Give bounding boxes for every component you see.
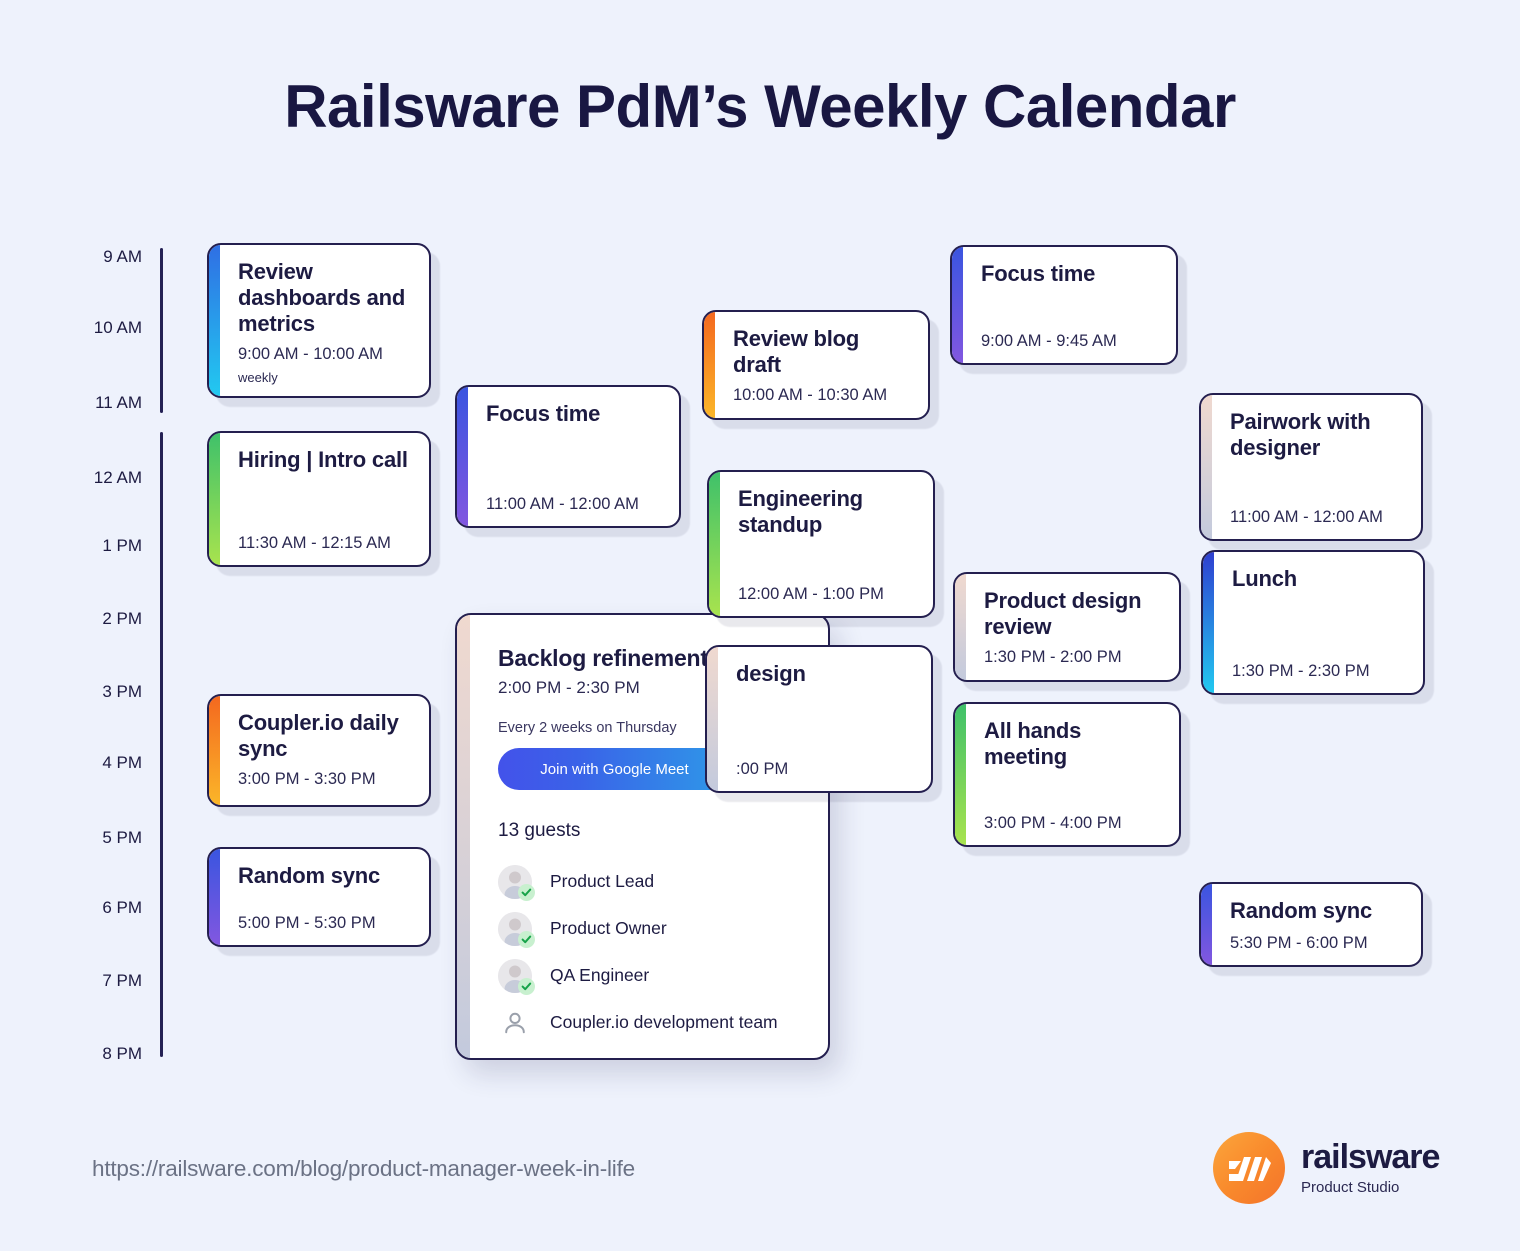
time-axis-label-10-am: 10 AM [60, 318, 142, 338]
event-accent-stripe [209, 696, 220, 805]
team-person-icon [498, 1010, 532, 1036]
time-axis-label-7-pm: 7 PM [60, 971, 142, 991]
time-axis-rule-2 [160, 432, 163, 1057]
railsware-mark-icon [1213, 1132, 1285, 1204]
event-accent-stripe [704, 312, 715, 418]
avatar [498, 865, 532, 899]
event-time: 11:00 AM - 12:00 AM [486, 495, 663, 514]
time-axis-label-11-am: 11 AM [60, 393, 142, 413]
time-axis-rule-1 [160, 248, 163, 413]
event-title: Lunch [1232, 566, 1407, 592]
event-accent-stripe [209, 245, 220, 396]
event-card-review-dashboards[interactable]: Review dashboards and metrics9:00 AM - 1… [207, 243, 431, 398]
time-axis-label-5-pm: 5 PM [60, 828, 142, 848]
railsware-logo: railsware Product Studio [1213, 1132, 1439, 1204]
guest-list: Product Lead Product Owner QA Engineer C… [498, 858, 806, 1046]
event-accent-stripe [955, 704, 966, 845]
guest-name: QA Engineer [550, 965, 649, 986]
time-axis-label-12-am: 12 AM [60, 468, 142, 488]
event-time: 5:30 PM - 6:00 PM [1230, 934, 1405, 953]
event-title: design [736, 661, 915, 687]
event-accent-stripe [707, 647, 718, 791]
check-icon [518, 884, 535, 901]
event-time: 3:00 PM - 4:00 PM [984, 814, 1163, 833]
guest-name: Coupler.io development team [550, 1012, 778, 1033]
event-time: 11:30 AM - 12:15 AM [238, 534, 413, 553]
event-accent-stripe [1201, 884, 1212, 965]
event-title: Coupler.io daily sync [238, 710, 413, 762]
event-card-random-sync-right[interactable]: Random sync5:30 PM - 6:00 PM [1199, 882, 1423, 967]
guest-name: Product Owner [550, 918, 667, 939]
event-time: 1:30 PM - 2:00 PM [984, 648, 1163, 667]
event-card-focus-time-mid[interactable]: Focus time11:00 AM - 12:00 AM [455, 385, 681, 528]
event-time: 9:00 AM - 10:00 AM [238, 345, 413, 364]
check-icon [518, 978, 535, 995]
event-time: 11:00 AM - 12:00 AM [1230, 508, 1405, 527]
event-title: All hands meeting [984, 718, 1163, 770]
time-axis-label-4-pm: 4 PM [60, 753, 142, 773]
event-title: Focus time [486, 401, 663, 427]
event-title: Pairwork with designer [1230, 409, 1405, 461]
guest-row: Product Owner [498, 905, 806, 952]
event-accent-stripe [709, 472, 720, 616]
event-accent-stripe [1203, 552, 1214, 693]
popup-accent-stripe [457, 615, 470, 1058]
event-title: Random sync [1230, 898, 1405, 924]
source-url[interactable]: https://railsware.com/blog/product-manag… [92, 1156, 635, 1182]
brand-tagline: Product Studio [1301, 1179, 1439, 1196]
event-title: Random sync [238, 863, 413, 889]
guest-row: Product Lead [498, 858, 806, 905]
event-accent-stripe [952, 247, 963, 363]
event-time: :00 PM [736, 760, 915, 779]
event-card-lunch[interactable]: Lunch1:30 PM - 2:30 PM [1201, 550, 1425, 695]
guest-count: 13 guests [498, 820, 806, 842]
calendar-infographic: Railsware PdM’s Weekly Calendar 9 AM10 A… [0, 0, 1520, 1251]
guest-row: Coupler.io development team [498, 999, 806, 1046]
event-card-engineering-standup[interactable]: Engineering standup12:00 AM - 1:00 PM [707, 470, 935, 618]
event-accent-stripe [209, 433, 220, 565]
event-title: Hiring | Intro call [238, 447, 413, 473]
page-title: Railsware PdM’s Weekly Calendar [0, 72, 1520, 141]
event-accent-stripe [955, 574, 966, 680]
event-accent-stripe [1201, 395, 1212, 539]
event-title: Engineering standup [738, 486, 917, 538]
event-card-pairwork-with-designer[interactable]: Pairwork with designer11:00 AM - 12:00 A… [1199, 393, 1423, 541]
time-axis-label-1-pm: 1 PM [60, 536, 142, 556]
event-time: 12:00 AM - 1:00 PM [738, 585, 917, 604]
event-time: 9:00 AM - 9:45 AM [981, 332, 1160, 351]
time-axis-label-8-pm: 8 PM [60, 1044, 142, 1064]
event-title: Focus time [981, 261, 1160, 287]
guest-name: Product Lead [550, 871, 654, 892]
event-card-all-hands-meeting[interactable]: All hands meeting3:00 PM - 4:00 PM [953, 702, 1181, 847]
event-accent-stripe [457, 387, 468, 526]
event-card-product-design-review[interactable]: Product design review1:30 PM - 2:00 PM [953, 572, 1181, 682]
time-axis-label-6-pm: 6 PM [60, 898, 142, 918]
avatar [498, 912, 532, 946]
avatar [498, 959, 532, 993]
event-card-hiring-intro-call[interactable]: Hiring | Intro call11:30 AM - 12:15 AM [207, 431, 431, 567]
event-card-focus-time-right[interactable]: Focus time9:00 AM - 9:45 AM [950, 245, 1178, 365]
event-time: 3:00 PM - 3:30 PM [238, 770, 413, 789]
join-with-google-meet-button[interactable]: Join with Google Meet [498, 748, 731, 790]
event-time: 5:00 PM - 5:30 PM [238, 914, 413, 933]
event-title: Review dashboards and metrics [238, 259, 413, 337]
event-card-review-blog-draft[interactable]: Review blog draft10:00 AM - 10:30 AM [702, 310, 930, 420]
event-card-coupler-daily-sync[interactable]: Coupler.io daily sync3:00 PM - 3:30 PM [207, 694, 431, 807]
brand-name: railsware [1301, 1140, 1439, 1174]
event-time: 10:00 AM - 10:30 AM [733, 386, 912, 405]
event-accent-stripe [209, 849, 220, 945]
event-time: 1:30 PM - 2:30 PM [1232, 662, 1407, 681]
time-axis-label-3-pm: 3 PM [60, 682, 142, 702]
guest-row: QA Engineer [498, 952, 806, 999]
time-axis-label-9-am: 9 AM [60, 247, 142, 267]
event-title: Product design review [984, 588, 1163, 640]
event-note: weekly [238, 370, 413, 385]
check-icon [518, 931, 535, 948]
event-card-random-sync-left[interactable]: Random sync5:00 PM - 5:30 PM [207, 847, 431, 947]
time-axis-label-2-pm: 2 PM [60, 609, 142, 629]
event-title: Review blog draft [733, 326, 912, 378]
event-card-partially-hidden-design[interactable]: design:00 PM [705, 645, 933, 793]
